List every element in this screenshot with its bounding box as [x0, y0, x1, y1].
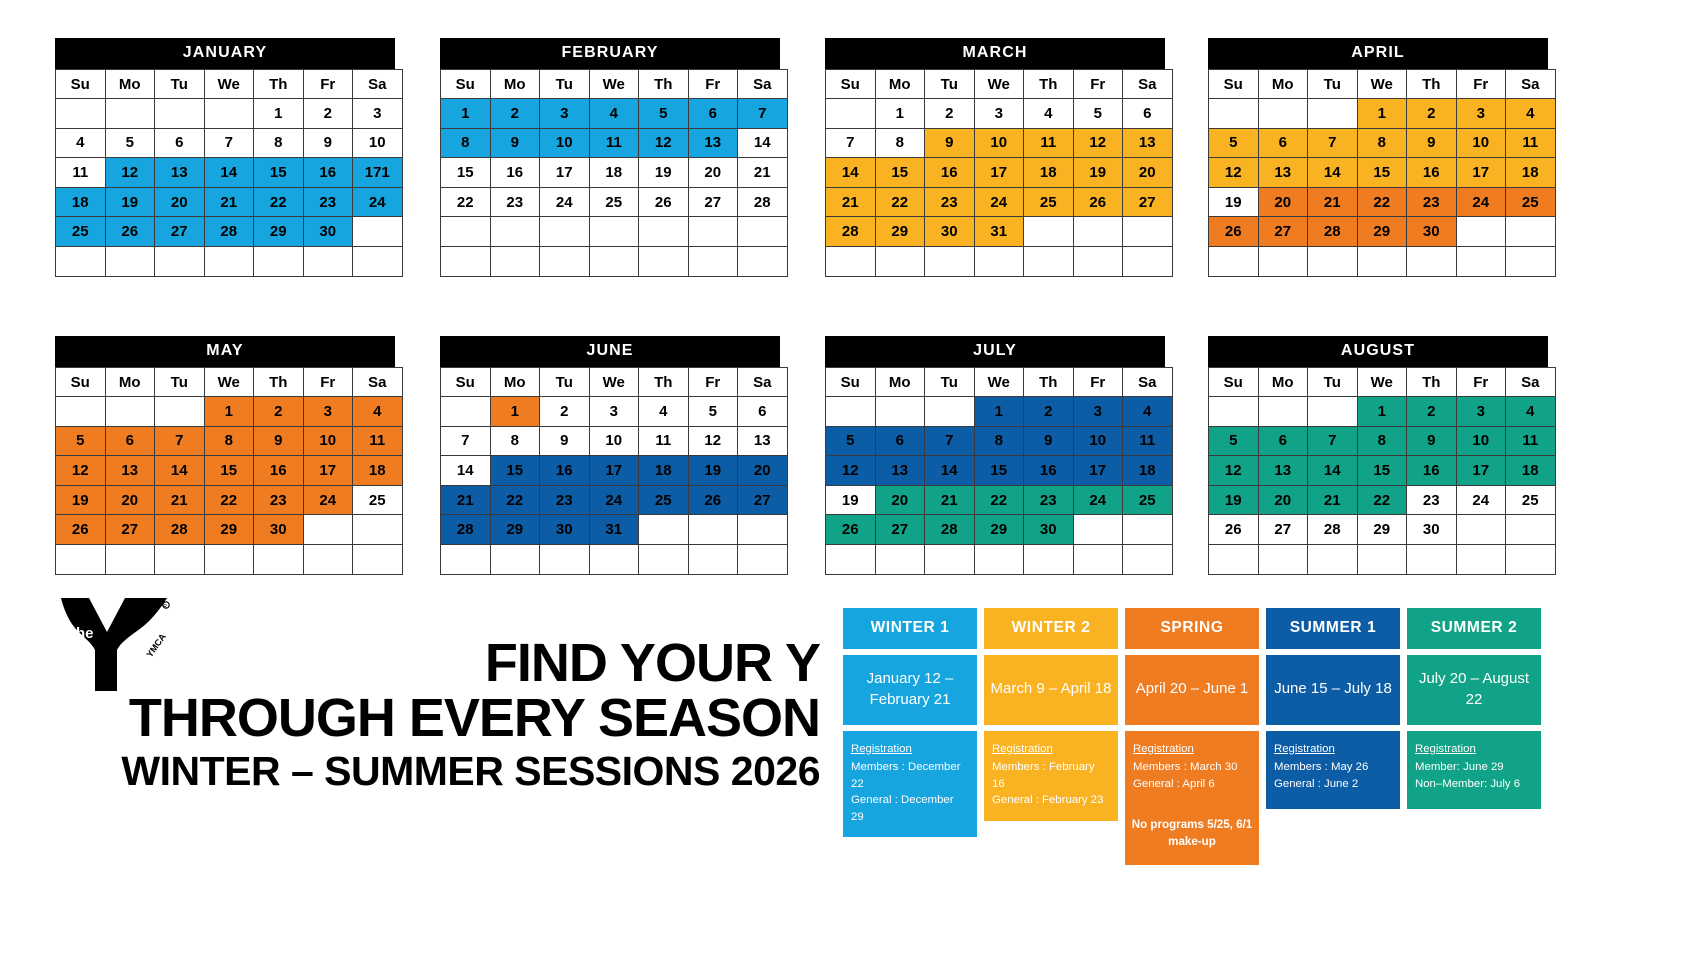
weekday-header-mo: Mo — [875, 368, 925, 397]
weekday-header-mo: Mo — [1258, 70, 1308, 99]
day-cell: 6 — [738, 397, 788, 427]
session-dates: March 9 – April 18 — [984, 655, 1118, 725]
day-cell: 20 — [688, 158, 738, 188]
day-cell: 29 — [875, 217, 925, 247]
weekday-header-fr: Fr — [688, 70, 738, 99]
day-cell-empty — [540, 217, 590, 247]
day-cell: 16 — [254, 456, 304, 486]
registration-members-date: Members : December 22 — [851, 759, 969, 792]
day-cell: 24 — [1456, 485, 1506, 515]
day-cell: 6 — [1123, 99, 1173, 129]
day-cell: 5 — [1209, 128, 1259, 158]
day-cell-empty — [688, 217, 738, 247]
registration-label[interactable]: Registration — [1415, 741, 1533, 758]
day-cell: 29 — [490, 515, 540, 545]
day-cell-empty — [56, 397, 106, 427]
day-cell-empty — [353, 217, 403, 247]
day-cell-empty — [1209, 99, 1259, 129]
day-cell: 2 — [1407, 99, 1457, 129]
day-cell: 4 — [56, 128, 106, 158]
day-cell: 24 — [353, 187, 403, 217]
day-cell: 13 — [155, 158, 205, 188]
day-cell-empty — [589, 217, 639, 247]
day-cell-empty — [925, 544, 975, 574]
day-cell-empty — [1308, 246, 1358, 276]
day-cell-empty — [490, 544, 540, 574]
day-cell-empty — [353, 246, 403, 276]
day-cell-empty — [738, 515, 788, 545]
day-cell: 9 — [303, 128, 353, 158]
day-cell-empty — [925, 397, 975, 427]
weekday-header-fr: Fr — [1456, 368, 1506, 397]
day-cell: 10 — [1073, 426, 1123, 456]
day-cell: 17 — [1456, 456, 1506, 486]
day-cell: 14 — [155, 456, 205, 486]
day-cell: 11 — [1506, 426, 1556, 456]
calendar-week-row: 19202122232425 — [56, 485, 403, 515]
day-cell: 12 — [688, 426, 738, 456]
calendar-week-row: 1234 — [56, 397, 403, 427]
day-cell: 19 — [826, 485, 876, 515]
day-cell-empty — [1073, 246, 1123, 276]
day-cell-empty — [303, 544, 353, 574]
day-cell: 22 — [441, 187, 491, 217]
weekday-header-row: SuMoTuWeThFrSa — [56, 70, 403, 99]
weekday-header-su: Su — [56, 70, 106, 99]
day-cell: 27 — [1258, 515, 1308, 545]
day-cell-empty — [441, 544, 491, 574]
day-cell: 25 — [353, 485, 403, 515]
day-cell: 6 — [875, 426, 925, 456]
day-cell: 27 — [1258, 217, 1308, 247]
session-dates: January 12 – February 21 — [843, 655, 977, 725]
weekday-header-sa: Sa — [353, 368, 403, 397]
weekday-header-mo: Mo — [1258, 368, 1308, 397]
day-cell-empty — [105, 544, 155, 574]
day-cell: 25 — [639, 485, 689, 515]
day-cell-empty — [56, 544, 106, 574]
day-cell: 22 — [875, 187, 925, 217]
day-cell: 13 — [688, 128, 738, 158]
day-cell-empty — [1506, 217, 1556, 247]
day-cell-empty — [441, 217, 491, 247]
day-cell: 10 — [589, 426, 639, 456]
day-cell: 17 — [303, 456, 353, 486]
day-cell: 15 — [490, 456, 540, 486]
session-card-s2[interactable]: SUMMER 2July 20 – August 22RegistrationM… — [1407, 608, 1541, 837]
session-note: No programs 5/25, 6/1 make-up — [1125, 802, 1259, 865]
headline-line-3: WINTER – SUMMER SESSIONS 2026 — [40, 746, 820, 797]
day-cell: 16 — [925, 158, 975, 188]
weekday-header-th: Th — [639, 70, 689, 99]
day-cell: 21 — [441, 485, 491, 515]
session-title: SUMMER 1 — [1266, 608, 1400, 649]
calendar-grid-region: JANUARYSuMoTuWeThFrSa1234567891011121314… — [0, 0, 1708, 620]
calendar-week-row — [441, 217, 788, 247]
day-cell: 2 — [1407, 397, 1457, 427]
calendar-table: SuMoTuWeThFrSa12345678910111213141516171… — [440, 69, 788, 277]
day-cell-empty — [925, 246, 975, 276]
day-cell: 25 — [1506, 485, 1556, 515]
day-cell: 8 — [875, 128, 925, 158]
day-cell: 15 — [1357, 158, 1407, 188]
day-cell: 6 — [688, 99, 738, 129]
day-cell: 1 — [875, 99, 925, 129]
day-cell: 26 — [1209, 217, 1259, 247]
calendar-month-title: MAY — [55, 336, 395, 367]
day-cell-empty — [540, 544, 590, 574]
day-cell-empty — [1407, 246, 1457, 276]
weekday-header-sa: Sa — [1506, 368, 1556, 397]
day-cell: 9 — [540, 426, 590, 456]
day-cell: 20 — [875, 485, 925, 515]
weekday-header-tu: Tu — [925, 70, 975, 99]
day-cell-empty — [1506, 515, 1556, 545]
weekday-header-su: Su — [1209, 70, 1259, 99]
weekday-header-we: We — [1357, 368, 1407, 397]
day-cell: 11 — [1123, 426, 1173, 456]
calendar-week-row — [441, 544, 788, 574]
day-cell: 28 — [155, 515, 205, 545]
day-cell: 9 — [1024, 426, 1074, 456]
weekday-header-th: Th — [1407, 368, 1457, 397]
day-cell-empty — [688, 544, 738, 574]
calendar-week-row — [56, 544, 403, 574]
day-cell: 23 — [925, 187, 975, 217]
day-cell-empty — [105, 99, 155, 129]
day-cell: 26 — [826, 515, 876, 545]
weekday-header-mo: Mo — [105, 70, 155, 99]
session-registration-block: RegistrationMembers : December 22General… — [843, 731, 977, 838]
day-cell: 10 — [540, 128, 590, 158]
calendar-table: SuMoTuWeThFrSa12345678910111213141516171… — [1208, 69, 1556, 277]
day-cell: 21 — [155, 485, 205, 515]
day-cell: 12 — [639, 128, 689, 158]
day-cell: 4 — [589, 99, 639, 129]
calendar-week-row — [56, 246, 403, 276]
day-cell-empty — [738, 217, 788, 247]
calendar-week-row: 19202122232425 — [1209, 485, 1556, 515]
weekday-header-th: Th — [1024, 368, 1074, 397]
weekday-header-su: Su — [826, 70, 876, 99]
calendar-may: MAYSuMoTuWeThFrSa12345678910111213141516… — [55, 336, 395, 575]
day-cell-empty — [1024, 544, 1074, 574]
day-cell: 30 — [254, 515, 304, 545]
weekday-header-sa: Sa — [353, 70, 403, 99]
day-cell: 24 — [589, 485, 639, 515]
calendar-week-row: 567891011 — [1209, 128, 1556, 158]
registration-label[interactable]: Registration — [1133, 741, 1251, 758]
calendar-july: JULYSuMoTuWeThFrSa1234567891011121314151… — [825, 336, 1165, 575]
weekday-header-sa: Sa — [1123, 70, 1173, 99]
day-cell-empty — [738, 246, 788, 276]
day-cell-empty — [826, 99, 876, 129]
weekday-header-su: Su — [1209, 368, 1259, 397]
calendar-week-row — [826, 246, 1173, 276]
weekday-header-tu: Tu — [1308, 368, 1358, 397]
day-cell: 6 — [1258, 426, 1308, 456]
calendar-table: SuMoTuWeThFrSa12345678910111213141516171… — [55, 367, 403, 575]
day-cell: 1 — [1357, 99, 1407, 129]
day-cell: 5 — [826, 426, 876, 456]
day-cell-empty — [105, 246, 155, 276]
day-cell-empty — [204, 544, 254, 574]
day-cell-empty — [1456, 544, 1506, 574]
session-title: WINTER 1 — [843, 608, 977, 649]
day-cell-empty — [1123, 246, 1173, 276]
registration-label[interactable]: Registration — [992, 741, 1110, 758]
day-cell: 3 — [1456, 99, 1506, 129]
day-cell: 15 — [1357, 456, 1407, 486]
day-cell-empty — [1024, 217, 1074, 247]
day-cell: 20 — [155, 187, 205, 217]
day-cell: 4 — [1123, 397, 1173, 427]
day-cell: 28 — [826, 217, 876, 247]
calendar-week-row: 78910111213 — [441, 426, 788, 456]
day-cell: 27 — [875, 515, 925, 545]
day-cell: 28 — [1308, 515, 1358, 545]
day-cell: 21 — [1308, 187, 1358, 217]
day-cell: 8 — [254, 128, 304, 158]
day-cell: 7 — [155, 426, 205, 456]
headline-line-1: FIND YOUR Y — [40, 636, 820, 691]
day-cell: 17 — [589, 456, 639, 486]
day-cell: 14 — [826, 158, 876, 188]
day-cell: 4 — [1506, 99, 1556, 129]
day-cell: 1 — [441, 99, 491, 129]
day-cell: 24 — [1456, 187, 1506, 217]
day-cell: 3 — [540, 99, 590, 129]
day-cell-empty — [688, 515, 738, 545]
day-cell: 29 — [1357, 515, 1407, 545]
weekday-header-fr: Fr — [1073, 70, 1123, 99]
calendar-august: AUGUSTSuMoTuWeThFrSa12345678910111213141… — [1208, 336, 1548, 575]
calendar-month-title: AUGUST — [1208, 336, 1548, 367]
weekday-header-th: Th — [1407, 70, 1457, 99]
weekday-header-fr: Fr — [688, 368, 738, 397]
day-cell: 16 — [1407, 456, 1457, 486]
day-cell: 16 — [540, 456, 590, 486]
headline-block: FIND YOUR Y THROUGH EVERY SEASON WINTER … — [40, 636, 820, 797]
calendar-week-row: 15161718192021 — [441, 158, 788, 188]
calendar-week-row: 1234 — [1209, 99, 1556, 129]
calendar-week-row: 567891011 — [826, 426, 1173, 456]
weekday-header-row: SuMoTuWeThFrSa — [441, 368, 788, 397]
day-cell-empty — [1456, 515, 1506, 545]
day-cell: 22 — [254, 187, 304, 217]
day-cell-empty — [1209, 397, 1259, 427]
weekday-header-mo: Mo — [105, 368, 155, 397]
day-cell: 26 — [56, 515, 106, 545]
weekday-header-we: We — [589, 70, 639, 99]
calendar-week-row: 14151617181920 — [826, 158, 1173, 188]
session-card-s1[interactable]: SUMMER 1June 15 – July 18RegistrationMem… — [1266, 608, 1400, 837]
day-cell: 3 — [1073, 397, 1123, 427]
day-cell: 27 — [105, 515, 155, 545]
day-cell-empty — [639, 544, 689, 574]
day-cell: 20 — [1258, 187, 1308, 217]
day-cell: 24 — [1073, 485, 1123, 515]
day-cell: 21 — [204, 187, 254, 217]
registration-members-date: Member: June 29 — [1415, 759, 1533, 776]
calendar-week-row: 891011121314 — [441, 128, 788, 158]
day-cell: 30 — [540, 515, 590, 545]
day-cell: 30 — [1024, 515, 1074, 545]
day-cell: 1 — [1357, 397, 1407, 427]
weekday-header-we: We — [1357, 70, 1407, 99]
registration-general-date: General : December 29 — [851, 792, 969, 825]
day-cell-empty — [1308, 397, 1358, 427]
day-cell: 19 — [105, 187, 155, 217]
day-cell-empty — [1024, 246, 1074, 276]
day-cell: 19 — [639, 158, 689, 188]
day-cell: 17 — [1456, 158, 1506, 188]
day-cell: 171 — [353, 158, 403, 188]
day-cell-empty — [875, 544, 925, 574]
day-cell-empty — [1357, 246, 1407, 276]
day-cell: 18 — [639, 456, 689, 486]
day-cell: 20 — [1123, 158, 1173, 188]
day-cell: 23 — [540, 485, 590, 515]
calendar-week-row: 14151617181920 — [441, 456, 788, 486]
day-cell: 1 — [490, 397, 540, 427]
day-cell: 11 — [56, 158, 106, 188]
day-cell: 5 — [688, 397, 738, 427]
day-cell: 18 — [1506, 456, 1556, 486]
calendar-week-row: 123456 — [826, 99, 1173, 129]
day-cell: 5 — [1209, 426, 1259, 456]
day-cell-empty — [490, 246, 540, 276]
day-cell-empty — [155, 246, 205, 276]
day-cell: 19 — [1209, 187, 1259, 217]
weekday-header-row: SuMoTuWeThFrSa — [826, 368, 1173, 397]
weekday-header-fr: Fr — [303, 70, 353, 99]
calendar-week-row: 78910111213 — [826, 128, 1173, 158]
day-cell-empty — [738, 544, 788, 574]
day-cell: 2 — [925, 99, 975, 129]
day-cell: 15 — [254, 158, 304, 188]
day-cell: 21 — [925, 485, 975, 515]
day-cell: 30 — [1407, 217, 1457, 247]
day-cell-empty — [875, 397, 925, 427]
day-cell-empty — [540, 246, 590, 276]
day-cell: 22 — [1357, 187, 1407, 217]
day-cell: 26 — [1073, 187, 1123, 217]
day-cell: 24 — [303, 485, 353, 515]
day-cell: 23 — [490, 187, 540, 217]
day-cell: 30 — [925, 217, 975, 247]
day-cell-empty — [589, 246, 639, 276]
day-cell-empty — [1308, 99, 1358, 129]
registration-members-date: Members : March 30 — [1133, 759, 1251, 776]
session-card-w2[interactable]: WINTER 2March 9 – April 18RegistrationMe… — [984, 608, 1118, 837]
calendar-week-row: 45678910 — [56, 128, 403, 158]
day-cell: 18 — [589, 158, 639, 188]
calendar-week-row: 252627282930 — [56, 217, 403, 247]
registration-label[interactable]: Registration — [1274, 741, 1392, 758]
day-cell: 13 — [105, 456, 155, 486]
day-cell: 5 — [105, 128, 155, 158]
day-cell: 29 — [974, 515, 1024, 545]
day-cell-empty — [974, 246, 1024, 276]
day-cell: 10 — [353, 128, 403, 158]
day-cell-empty — [589, 544, 639, 574]
calendar-week-row: 123 — [56, 99, 403, 129]
weekday-header-tu: Tu — [540, 368, 590, 397]
day-cell-empty — [1209, 544, 1259, 574]
weekday-header-row: SuMoTuWeThFrSa — [1209, 70, 1556, 99]
day-cell-empty — [353, 544, 403, 574]
session-registration-block: RegistrationMembers : May 26General : Ju… — [1266, 731, 1400, 809]
day-cell-empty — [254, 246, 304, 276]
day-cell: 18 — [1024, 158, 1074, 188]
calendar-week-row: 567891011 — [1209, 426, 1556, 456]
session-card-sp[interactable]: SPRINGApril 20 – June 1RegistrationMembe… — [1125, 608, 1259, 837]
day-cell: 20 — [1258, 485, 1308, 515]
day-cell: 25 — [1506, 187, 1556, 217]
calendar-week-row: 1234 — [826, 397, 1173, 427]
session-card-w1[interactable]: WINTER 1January 12 – February 21Registra… — [843, 608, 977, 837]
day-cell: 4 — [639, 397, 689, 427]
day-cell: 17 — [1073, 456, 1123, 486]
day-cell: 9 — [925, 128, 975, 158]
day-cell: 8 — [441, 128, 491, 158]
day-cell: 18 — [1506, 158, 1556, 188]
day-cell: 16 — [490, 158, 540, 188]
calendar-march: MARCHSuMoTuWeThFrSa123456789101112131415… — [825, 38, 1165, 277]
day-cell: 20 — [738, 456, 788, 486]
registration-general-date: General : June 2 — [1274, 776, 1392, 793]
day-cell-empty — [639, 217, 689, 247]
headline-line-2: THROUGH EVERY SEASON — [40, 691, 820, 746]
day-cell: 13 — [1258, 456, 1308, 486]
registration-members-date: Members : February 16 — [992, 759, 1110, 792]
day-cell-empty — [155, 544, 205, 574]
day-cell-empty — [441, 397, 491, 427]
weekday-header-we: We — [974, 70, 1024, 99]
day-cell: 15 — [204, 456, 254, 486]
day-cell: 7 — [826, 128, 876, 158]
day-cell: 12 — [1209, 456, 1259, 486]
registration-general-date: General : February 23 — [992, 792, 1110, 809]
day-cell: 28 — [738, 187, 788, 217]
calendar-week-row: 21222324252627 — [441, 485, 788, 515]
registration-label[interactable]: Registration — [851, 741, 969, 758]
day-cell: 27 — [155, 217, 205, 247]
day-cell: 7 — [1308, 128, 1358, 158]
day-cell: 3 — [353, 99, 403, 129]
day-cell: 19 — [1073, 158, 1123, 188]
day-cell: 23 — [254, 485, 304, 515]
day-cell-empty — [1506, 544, 1556, 574]
session-title: SPRING — [1125, 608, 1259, 649]
day-cell: 20 — [105, 485, 155, 515]
day-cell: 23 — [1407, 485, 1457, 515]
day-cell: 23 — [1024, 485, 1074, 515]
day-cell: 30 — [1407, 515, 1457, 545]
day-cell: 21 — [1308, 485, 1358, 515]
weekday-header-fr: Fr — [303, 368, 353, 397]
weekday-header-mo: Mo — [875, 70, 925, 99]
weekday-header-row: SuMoTuWeThFrSa — [826, 70, 1173, 99]
weekday-header-tu: Tu — [155, 368, 205, 397]
calendar-april: APRILSuMoTuWeThFrSa123456789101112131415… — [1208, 38, 1548, 277]
day-cell: 9 — [1407, 426, 1457, 456]
day-cell-empty — [688, 246, 738, 276]
day-cell: 11 — [589, 128, 639, 158]
weekday-header-mo: Mo — [490, 70, 540, 99]
calendar-table: SuMoTuWeThFrSa12345678910111213141516171… — [825, 69, 1173, 277]
